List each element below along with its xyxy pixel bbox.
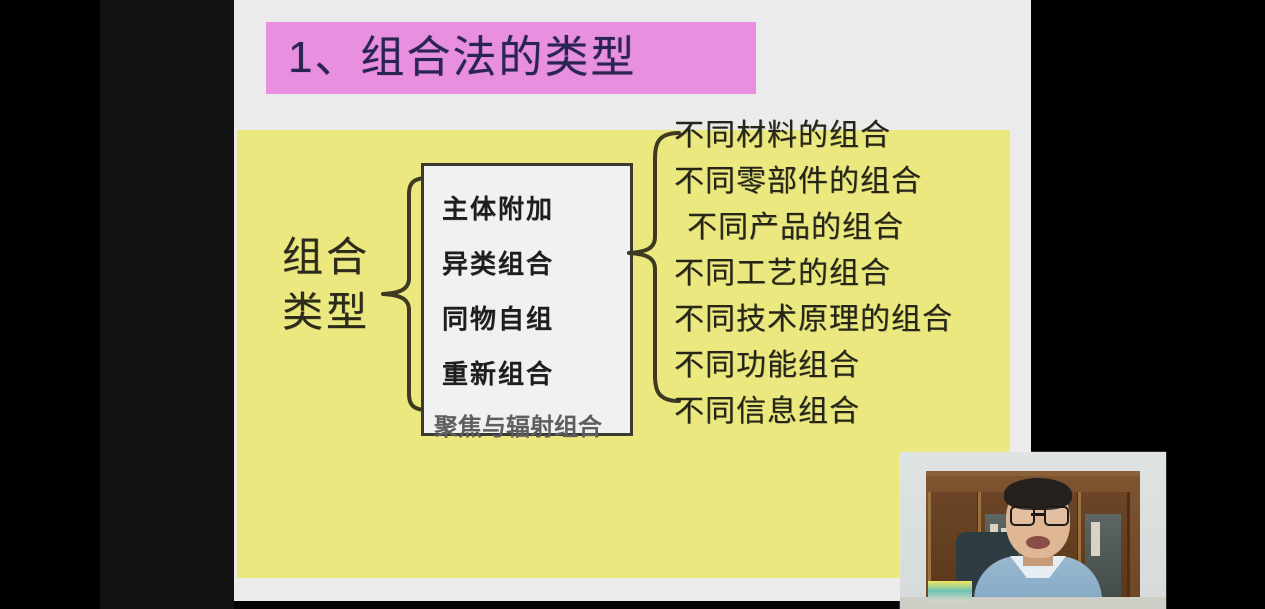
example-item-7: 不同信息组合 — [674, 397, 1004, 427]
letterbox-left-inner — [100, 0, 234, 609]
slide-title-banner: 1、组合法的类型 — [266, 22, 756, 94]
example-item-4: 不同工艺的组合 — [674, 259, 1004, 289]
video-player: 1、组合法的类型 组合 类型 主体附加 异类组合 同物自组 重新组合 聚焦与辐射… — [0, 0, 1265, 609]
example-item-6: 不同功能组合 — [674, 351, 1004, 381]
type-item-2: 异类组合 — [442, 251, 630, 277]
presenter-glasses-right-lens — [1044, 506, 1069, 526]
combination-examples-list: 不同材料的组合 不同零部件的组合 不同产品的组合 不同工艺的组合 不同技术原理的… — [674, 121, 1004, 443]
presenter-glasses-bridge — [1031, 513, 1044, 516]
presenter-mouth — [1026, 536, 1050, 549]
type-item-4: 重新组合 — [442, 361, 630, 387]
type-item-3: 同物自组 — [442, 306, 630, 332]
example-item-3: 不同产品的组合 — [674, 213, 1004, 243]
combination-type-box: 主体附加 异类组合 同物自组 重新组合 聚焦与辐射组合 — [421, 163, 633, 436]
page-title: 1、组合法的类型 — [266, 36, 636, 80]
type-item-5: 聚焦与辐射组合 — [434, 416, 630, 440]
webcam-book-stack — [928, 581, 972, 601]
slide-content-panel: 组合 类型 主体附加 异类组合 同物自组 重新组合 聚焦与辐射组合 不同材料的组… — [237, 130, 1010, 578]
type-item-1: 主体附加 — [442, 196, 630, 222]
example-item-5: 不同技术原理的组合 — [674, 305, 1004, 335]
example-item-1: 不同材料的组合 — [674, 121, 1004, 151]
presenter-glasses-left-lens — [1010, 506, 1035, 526]
example-item-2: 不同零部件的组合 — [674, 167, 1004, 197]
presenter-video-overlay[interactable] — [900, 452, 1166, 609]
bookcase-book — [1091, 522, 1100, 556]
